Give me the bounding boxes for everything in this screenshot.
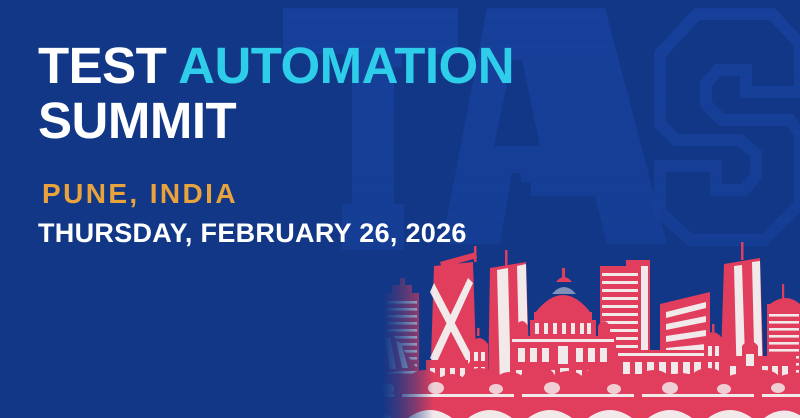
arched-bridge — [330, 386, 800, 418]
stadium-roof — [336, 334, 418, 376]
headline-test: TEST — [38, 37, 178, 94]
round-top-striped-tower — [767, 284, 800, 388]
ribbed-highrise — [600, 260, 650, 388]
heritage-tower-left — [470, 328, 488, 388]
antenna-twin-tower — [720, 242, 764, 388]
headline-line-2: SUMMIT — [38, 93, 658, 148]
banner-text-block: TEST AUTOMATION SUMMIT PUNE, INDIA THURS… — [38, 38, 658, 248]
headline-line-1: TEST AUTOMATION — [38, 38, 658, 93]
pune-skyline-illustration — [330, 238, 800, 418]
headline-automation: AUTOMATION — [178, 37, 514, 94]
twin-slab-tower — [488, 250, 530, 388]
event-location: PUNE, INDIA — [42, 179, 658, 209]
heritage-block-far-right — [726, 341, 796, 388]
angled-glass-tower — [660, 292, 710, 388]
mid-small-block — [426, 360, 468, 388]
heritage-block — [616, 324, 722, 388]
crossed-facade-tower — [430, 246, 477, 388]
domed-colonial-building — [510, 268, 616, 388]
event-banner: TEST AUTOMATION SUMMIT PUNE, INDIA THURS… — [0, 0, 800, 418]
event-date: THURSDAY, FEBRUARY 26, 2026 — [38, 218, 658, 248]
round-striped-tower — [385, 278, 419, 388]
tree-canopy-row — [330, 366, 800, 396]
tree-highlights — [350, 382, 785, 394]
